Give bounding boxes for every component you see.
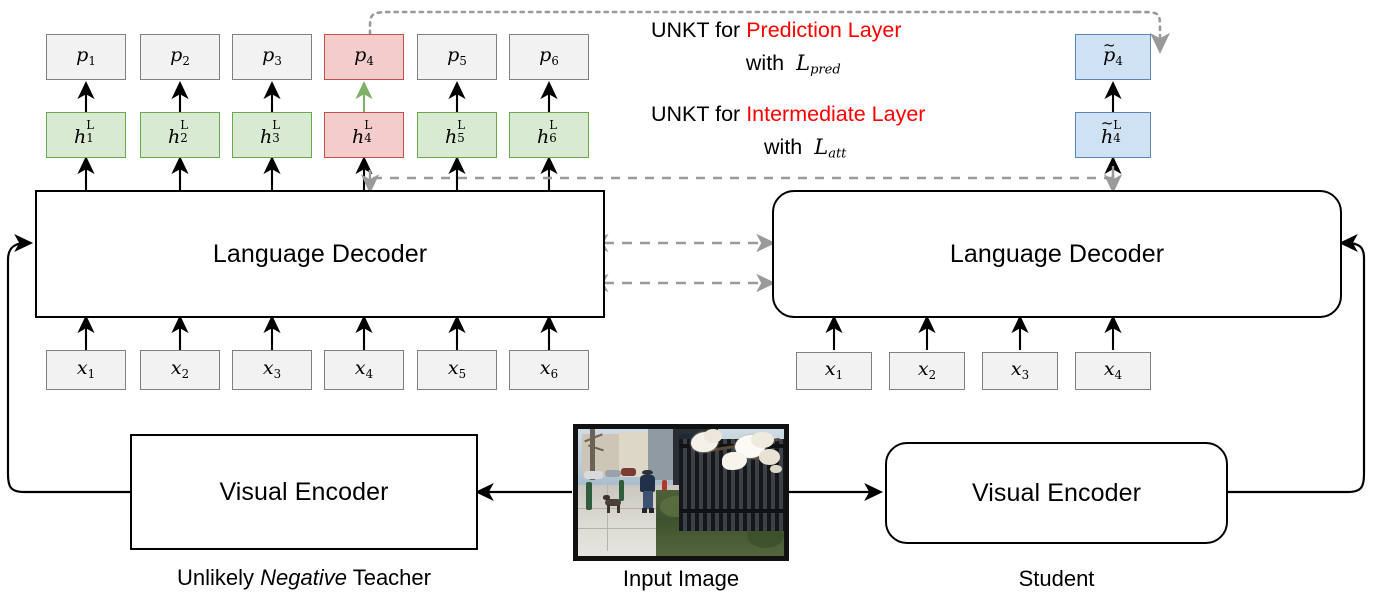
teacher-language-decoder: Language Decoder xyxy=(35,190,605,318)
math-sub: 2 xyxy=(180,133,188,145)
teacher-caption-suffix: Teacher xyxy=(347,565,431,590)
teacher-hidden-h4: hL4 xyxy=(324,112,404,158)
annotation-pred-loss-base: L xyxy=(796,51,810,75)
math-base: p xyxy=(170,44,182,66)
annotation-pred-highlight: Prediction Layer xyxy=(746,18,901,42)
math-sub: 3 xyxy=(274,54,282,68)
math-base: x xyxy=(540,357,551,379)
math-sub: 6 xyxy=(549,133,557,145)
math-sup: L xyxy=(457,120,465,132)
student-encoder-label: Visual Encoder xyxy=(972,479,1141,508)
math-sub: 6 xyxy=(551,367,559,381)
teacher-prediction-p5: p5 xyxy=(417,34,497,80)
input-image xyxy=(573,424,789,561)
math-base: h xyxy=(260,126,272,148)
teacher-caption: Unlikely Negative Teacher xyxy=(130,565,478,591)
math-sub: 2 xyxy=(182,54,190,68)
math-base: x xyxy=(918,358,929,380)
input-image-scene xyxy=(578,429,784,556)
math-sub: 1 xyxy=(86,133,94,145)
annotation-inter-prefix: UNKT for xyxy=(651,102,746,126)
math-base: p xyxy=(447,44,459,66)
teacher-caption-emphasis: Negative xyxy=(260,565,347,590)
math-base: x xyxy=(825,358,836,380)
teacher-hidden-h1: hL1 xyxy=(46,112,126,158)
student-input-x4: x4 xyxy=(1075,352,1151,390)
math-sub: 4 xyxy=(366,54,374,68)
tilde-accent: ~ xyxy=(1103,38,1116,53)
math-sub: 5 xyxy=(457,133,465,145)
math-sub: 3 xyxy=(272,133,280,145)
math-sub: 1 xyxy=(88,54,96,68)
annotation-pred-line1: UNKT for Prediction Layer xyxy=(651,14,902,47)
math-sub: 1 xyxy=(836,368,844,382)
annotation-inter-line2: with Latt xyxy=(651,131,925,165)
teacher-encoder-label: Visual Encoder xyxy=(219,478,388,507)
student-visual-encoder: Visual Encoder xyxy=(885,442,1228,544)
student-input-x2: x2 xyxy=(889,352,965,390)
math-sub: 4 xyxy=(364,133,372,145)
annotation-inter-loss-base: L xyxy=(814,135,828,159)
teacher-prediction-p4: p4 xyxy=(324,34,404,80)
teacher-visual-encoder: Visual Encoder xyxy=(130,434,478,550)
math-sub: 6 xyxy=(551,54,559,68)
tilde-accent: ~ xyxy=(1101,116,1114,131)
input-image-caption-label: Input Image xyxy=(623,566,739,591)
math-sup: L xyxy=(180,120,188,132)
math-base: h xyxy=(352,126,364,148)
math-base: h xyxy=(445,126,457,148)
teacher-input-x6: x6 xyxy=(509,350,589,390)
math-sub: 5 xyxy=(459,54,467,68)
annotation-pred-line2: with Lpred xyxy=(651,47,902,81)
figure-canvas: p1 p2 p3 p4 p5 p6 hL1 hL2 hL3 hL4 hL5 hL… xyxy=(0,0,1373,603)
math-base: x xyxy=(448,357,459,379)
teacher-prediction-p6: p6 xyxy=(509,34,589,80)
math-base: x xyxy=(1104,358,1115,380)
annotation-inter-highlight: Intermediate Layer xyxy=(746,102,925,126)
math-sub: 4 xyxy=(366,367,374,381)
teacher-input-x4: x4 xyxy=(324,350,404,390)
teacher-input-x3: x3 xyxy=(232,350,312,390)
student-caption-label: Student xyxy=(1019,566,1095,591)
annotation-inter-loss-sub: att xyxy=(828,147,846,162)
math-base: x xyxy=(355,357,366,379)
student-caption: Student xyxy=(885,566,1228,592)
teacher-decoder-label: Language Decoder xyxy=(213,240,427,269)
math-sub: 4 xyxy=(1115,54,1123,68)
math-base: h xyxy=(74,126,86,148)
input-image-caption: Input Image xyxy=(573,566,789,592)
math-sub: 4 xyxy=(1113,133,1121,145)
teacher-hidden-h2: hL2 xyxy=(140,112,220,158)
annotation-inter-with: with xyxy=(764,135,808,159)
math-sup: L xyxy=(549,120,557,132)
annotation-pred-with: with xyxy=(746,51,790,75)
student-input-x3: x3 xyxy=(982,352,1058,390)
annotation-pred-loss-sub: pred xyxy=(810,63,841,78)
annotation-intermediate-layer: UNKT for Intermediate Layer with Latt xyxy=(651,98,925,165)
math-sup: L xyxy=(364,120,372,132)
math-sub: 2 xyxy=(182,367,190,381)
math-sub: 5 xyxy=(459,367,467,381)
math-sub: 4 xyxy=(1115,368,1123,382)
math-sup: L xyxy=(1113,120,1121,132)
math-base: p xyxy=(539,44,551,66)
teacher-hidden-h5: hL5 xyxy=(417,112,497,158)
teacher-prediction-p1: p1 xyxy=(46,34,126,80)
annotation-prediction-layer: UNKT for Prediction Layer with Lpred xyxy=(651,14,902,81)
math-sub: 3 xyxy=(1022,368,1030,382)
math-base: p xyxy=(262,44,274,66)
student-hidden-h4-tilde: ~ hL4 xyxy=(1075,112,1151,158)
student-decoder-label: Language Decoder xyxy=(950,240,1164,269)
teacher-prediction-p2: p2 xyxy=(140,34,220,80)
math-base: x xyxy=(263,357,274,379)
annotation-inter-line1: UNKT for Intermediate Layer xyxy=(651,98,925,131)
student-prediction-p4-tilde: ~ p4 xyxy=(1075,34,1151,80)
math-base: x xyxy=(77,357,88,379)
teacher-caption-prefix: Unlikely xyxy=(177,565,260,590)
student-input-x1: x1 xyxy=(796,352,872,390)
teacher-input-x2: x2 xyxy=(140,350,220,390)
math-base: h xyxy=(537,126,549,148)
math-sup: L xyxy=(86,120,94,132)
math-base: x xyxy=(171,357,182,379)
math-base: h xyxy=(168,126,180,148)
student-language-decoder: Language Decoder xyxy=(772,190,1342,318)
math-sub: 1 xyxy=(88,367,96,381)
math-base: p xyxy=(354,44,366,66)
math-base: p xyxy=(76,44,88,66)
teacher-hidden-h6: hL6 xyxy=(509,112,589,158)
math-base: x xyxy=(1011,358,1022,380)
teacher-hidden-h3: hL3 xyxy=(232,112,312,158)
teacher-input-x1: x1 xyxy=(46,350,126,390)
teacher-prediction-p3: p3 xyxy=(232,34,312,80)
annotation-pred-prefix: UNKT for xyxy=(651,18,746,42)
teacher-input-x5: x5 xyxy=(417,350,497,390)
math-sub: 3 xyxy=(274,367,282,381)
math-sup: L xyxy=(272,120,280,132)
math-sub: 2 xyxy=(929,368,937,382)
